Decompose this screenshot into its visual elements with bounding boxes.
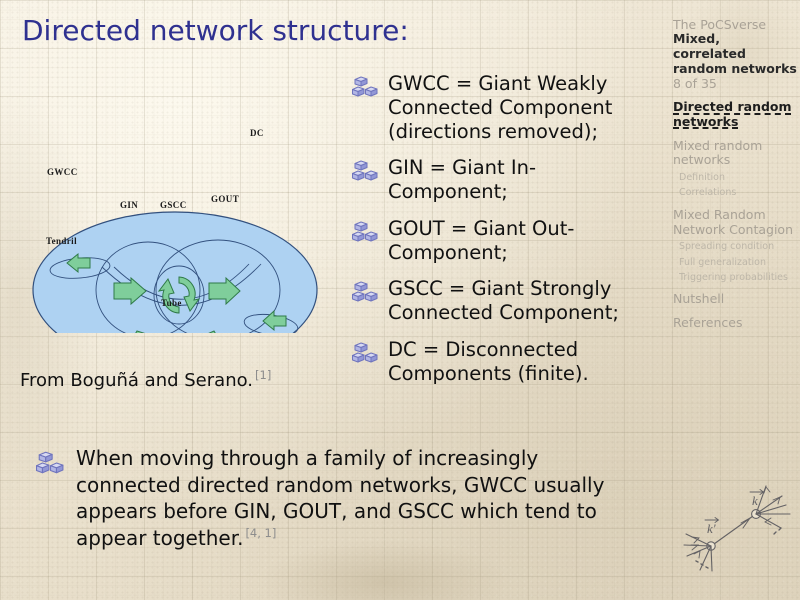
figure-label-gin: GIN	[120, 200, 138, 210]
figure-caption-citation: [1]	[255, 368, 271, 382]
sidebar-subitem-spreading-condition[interactable]: Spreading condition	[673, 241, 797, 252]
sidebar-deck-title: Mixed, correlated random networks	[673, 32, 797, 76]
sidebar-slide-count: 8 of 35	[673, 77, 797, 91]
list-item-label: GOUT = Giant Out-Component;	[388, 217, 652, 265]
sidebar-item-mixed-random-network-contagion[interactable]: Mixed Random Network Contagion	[673, 208, 797, 238]
doodle-label-k-prime: k'	[707, 521, 716, 536]
sidebar-subitem-triggering-probabilities[interactable]: Triggering probabilities	[673, 272, 797, 283]
cube-stack-icon	[352, 76, 378, 98]
definitions-list: GWCC = Giant Weakly Connected Component …	[352, 72, 652, 399]
sidebar-subitem-definition[interactable]: Definition	[673, 172, 797, 183]
sidebar-subitem-correlations[interactable]: Correlations	[673, 187, 797, 198]
sidebar-nav: The PoCSverse Mixed, correlated random n…	[673, 18, 797, 331]
cube-stack-icon	[36, 451, 64, 475]
list-item-label: GWCC = Giant Weakly Connected Component …	[388, 72, 652, 143]
directed-network-structure-diagram: GWCC GIN GSCC GOUT DC Tendril Tube	[18, 108, 348, 333]
list-item: GOUT = Giant Out-Component;	[352, 217, 652, 265]
sidebar-brand: The PoCSverse	[673, 18, 797, 32]
cube-stack-icon	[352, 342, 378, 364]
doodle-label-k: k	[752, 493, 758, 508]
summary-paragraph-text: When moving through a family of increasi…	[76, 446, 604, 550]
list-item: GWCC = Giant Weakly Connected Component …	[352, 72, 652, 143]
diagram-svg	[18, 108, 348, 333]
cube-stack-icon	[352, 221, 378, 243]
figure-label-gscc: GSCC	[160, 200, 187, 210]
list-item-label: GIN = Giant In-Component;	[388, 156, 652, 204]
cube-stack-icon	[352, 160, 378, 182]
list-item-label: GSCC = Giant Strongly Connected Componen…	[388, 277, 652, 325]
figure-caption: From Boguñá and Serano.[1]	[20, 368, 271, 391]
hand-drawn-degree-sketch: k' k	[678, 478, 796, 590]
figure-label-tube: Tube	[161, 298, 182, 308]
figure-label-gwcc: GWCC	[47, 167, 78, 177]
slide-canvas: Directed network structure: The PoCSvers…	[0, 0, 800, 600]
figure-label-gout: GOUT	[211, 194, 239, 204]
sidebar-item-directed-random-networks[interactable]: Directed random networks	[673, 100, 797, 130]
list-item: GSCC = Giant Strongly Connected Componen…	[352, 277, 652, 325]
figure-caption-text: From Boguñá and Serano.	[20, 370, 253, 391]
sidebar-subitem-full-generalization[interactable]: Full generalization	[673, 257, 797, 268]
figure-label-dc: DC	[250, 128, 264, 138]
sidebar-item-nutshell[interactable]: Nutshell	[673, 292, 797, 307]
sidebar-item-mixed-random-networks[interactable]: Mixed random networks	[673, 139, 797, 169]
summary-paragraph-citation: [4, 1]	[245, 526, 276, 540]
list-item-label: DC = Disconnected Components (finite).	[388, 338, 652, 386]
cube-stack-icon	[352, 281, 378, 303]
figure-label-tendril: Tendril	[46, 236, 77, 246]
summary-paragraph: When moving through a family of increasi…	[76, 445, 636, 551]
list-item: DC = Disconnected Components (finite).	[352, 338, 652, 386]
list-item: GIN = Giant In-Component;	[352, 156, 652, 204]
sidebar-item-references[interactable]: References	[673, 316, 797, 331]
summary-statement: When moving through a family of increasi…	[36, 445, 636, 551]
page-title: Directed network structure:	[22, 14, 409, 47]
